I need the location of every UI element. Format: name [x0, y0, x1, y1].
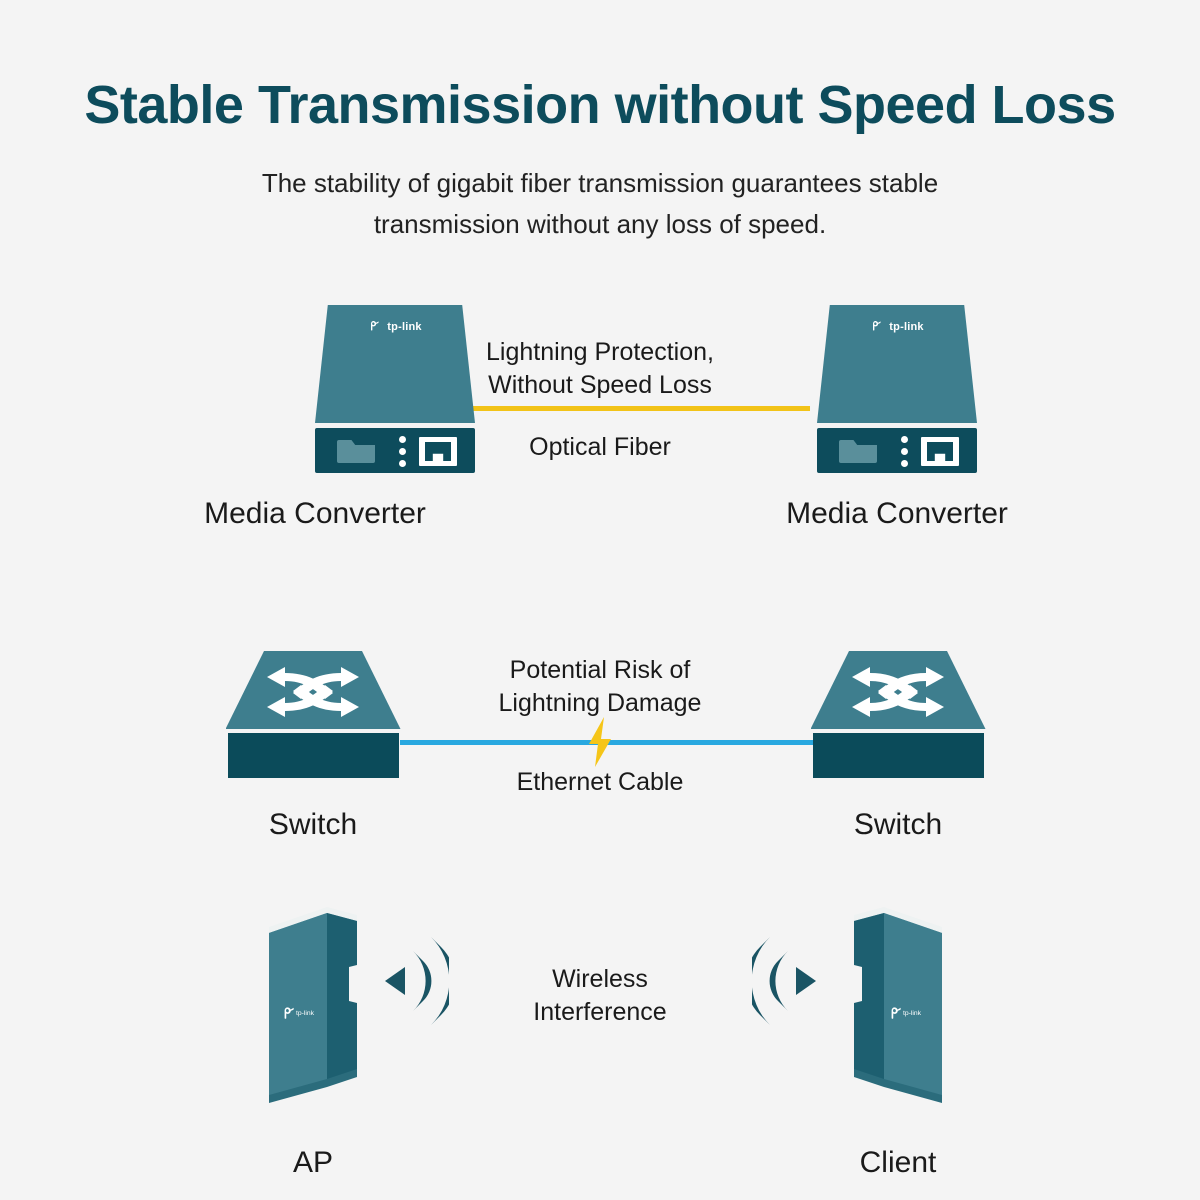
caption-line-2: Lightning Damage: [499, 689, 702, 717]
caption-line-1: Potential Risk of: [510, 656, 691, 684]
device-front-panel: [315, 428, 475, 473]
switch-arrows-icon: [842, 663, 954, 721]
switch-base: [813, 733, 984, 778]
tp-link-logo: tp-link: [817, 319, 977, 334]
led-indicator: [399, 460, 406, 467]
sfp-slot-icon: [839, 440, 877, 463]
tp-link-mark-icon: [870, 319, 885, 334]
led-indicator: [901, 460, 908, 467]
sfp-slot-icon: [337, 440, 375, 463]
wireless-row: Wireless Interference tp-link: [0, 0, 1200, 1]
device-front-panel: [817, 428, 977, 473]
header: Stable Transmission without Speed Loss T…: [0, 76, 1200, 244]
rj45-port-inner: [425, 442, 451, 461]
switch-icon: [811, 651, 986, 778]
node-media-converter-left: tp-link Media Converter: [155, 305, 475, 531]
node-label: Media Converter: [155, 497, 475, 531]
access-point-icon: tp-link: [261, 905, 365, 1110]
tp-link-logo-text: tp-link: [387, 321, 421, 333]
node-switch-left: Switch: [153, 651, 473, 842]
caption-line-2: Interference: [533, 998, 666, 1026]
caption-line-1: Lightning Protection,: [486, 338, 714, 366]
node-label: Switch: [738, 808, 1058, 842]
led-indicators: [901, 436, 908, 467]
media-converter-icon: tp-link: [817, 305, 977, 473]
tp-link-mark-icon: [368, 319, 383, 334]
led-indicator: [901, 448, 908, 455]
tp-link-logo-text: tp-link: [889, 321, 923, 333]
caption-line-1: Wireless: [552, 965, 648, 993]
caption-link-type: Optical Fiber: [529, 433, 671, 461]
node-label: AP: [153, 1146, 473, 1180]
subtitle-line-2: transmission without any loss of speed.: [374, 209, 826, 239]
subtitle-line-1: The stability of gigabit fiber transmiss…: [262, 168, 938, 198]
node-label: Switch: [153, 808, 473, 842]
svg-text:tp-link: tp-link: [296, 1010, 315, 1017]
page-subtitle: The stability of gigabit fiber transmiss…: [0, 135, 1200, 244]
svg-text:tp-link: tp-link: [903, 1010, 922, 1017]
node-label: Client: [738, 1146, 1058, 1180]
infographic-page: Stable Transmission without Speed Loss T…: [0, 0, 1200, 1200]
wifi-signal-icon-left: [381, 935, 449, 1027]
node-client: tp-link Client: [738, 905, 1058, 1180]
rj45-port-icon: [419, 437, 457, 466]
node-switch-right: Switch: [738, 651, 1058, 842]
caption-line-2: Without Speed Loss: [488, 371, 712, 399]
switch-icon: [226, 651, 401, 778]
led-indicator: [901, 436, 908, 443]
switch-base: [228, 733, 399, 778]
lightning-bolt-icon: [583, 716, 617, 768]
page-title: Stable Transmission without Speed Loss: [0, 76, 1200, 135]
rj45-port-icon: [921, 437, 959, 466]
node-media-converter-right: tp-link Media Converter: [737, 305, 1057, 531]
led-indicators: [399, 436, 406, 467]
node-label: Media Converter: [737, 497, 1057, 531]
caption-link-type: Ethernet Cable: [517, 768, 684, 796]
led-indicator: [399, 436, 406, 443]
led-indicator: [399, 448, 406, 455]
switch-arrows-icon: [257, 663, 369, 721]
tp-link-logo: tp-link: [315, 319, 475, 334]
media-converter-icon: tp-link: [315, 305, 475, 473]
rj45-port-inner: [927, 442, 953, 461]
client-cpe-icon: tp-link: [846, 905, 950, 1110]
